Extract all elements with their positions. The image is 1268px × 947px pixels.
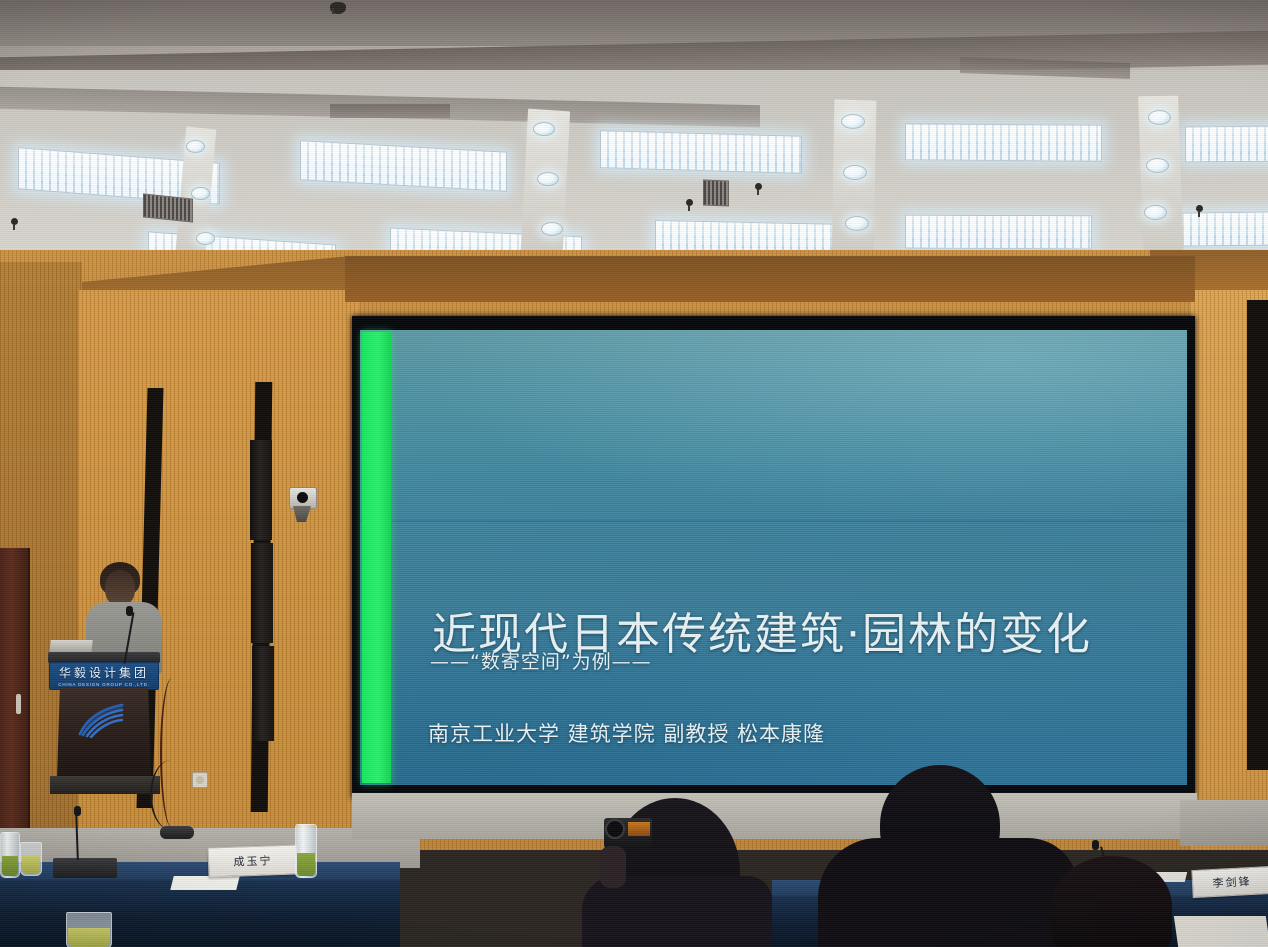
wall-dark-panel-right: [1247, 300, 1268, 770]
table-paper: [170, 876, 239, 890]
table-skirt: [0, 880, 400, 947]
nameplate-left: 成玉宁: [208, 844, 299, 877]
downlight: [843, 165, 867, 180]
podium: 华毅设计集团 CHINA DESIGN GROUP CO.,LTD.: [48, 652, 163, 797]
ceiling-sprinkler: [755, 183, 762, 190]
ceiling-sprinkler: [686, 199, 693, 206]
ceiling-sprinkler: [1196, 205, 1203, 212]
table-microphone-head: [74, 806, 81, 816]
screen-green-edge-artifact: [362, 332, 391, 783]
downlight: [841, 114, 865, 129]
tea-glass: [20, 842, 42, 876]
table-paper-stack: [1174, 916, 1268, 947]
ceiling-light-panel: [905, 123, 1102, 161]
stage-floor-center: [352, 793, 1197, 839]
nameplate-right-text: 李剑锋: [1212, 873, 1252, 891]
audience-attendee-center-body: [818, 838, 1078, 947]
downlight: [1144, 205, 1167, 220]
led-screen[interactable]: [360, 330, 1187, 785]
screen-header-soffit: [345, 256, 1195, 302]
podium-sign-chinese: 华毅设计集团: [50, 664, 158, 681]
screen-scanlines: [360, 330, 1187, 785]
downlight: [537, 172, 559, 186]
ceiling-light-panel: [600, 130, 802, 174]
ceiling-sprinkler: [330, 2, 346, 14]
downlight: [1146, 158, 1169, 173]
stage-floor-right: [1180, 800, 1268, 846]
floor-equipment: [160, 826, 194, 839]
downlight: [1148, 110, 1171, 125]
side-door[interactable]: [0, 548, 30, 853]
photographer-hand: [600, 846, 626, 888]
downlight: [196, 232, 215, 245]
slide-presenter: 南京工业大学 建筑学院 副教授 松本康隆: [428, 718, 825, 748]
podium-microphone-head: [126, 606, 133, 616]
ceiling: [0, 0, 1268, 262]
ceiling-light-panel: [905, 215, 1092, 250]
audience-attendee-right-head: [1052, 856, 1172, 947]
podium-sign: 华毅设计集团 CHINA DESIGN GROUP CO.,LTD.: [49, 662, 159, 690]
wall-speaker-column: [250, 440, 272, 540]
water-bottle: [295, 824, 317, 878]
table-microphone-head: [1092, 840, 1099, 850]
ceiling-recess-a: [330, 104, 450, 118]
downlight: [191, 187, 210, 200]
ceiling-light-panel: [1175, 211, 1268, 246]
floor-cable: [150, 760, 192, 830]
ceiling-vent: [703, 180, 729, 207]
wall-speaker-column: [251, 543, 273, 643]
ceiling-vent: [143, 193, 193, 222]
nameplate-left-text: 成玉宁: [233, 852, 273, 869]
dslr-camera-icon: [604, 818, 652, 848]
ceiling-sprinkler: [11, 218, 18, 225]
podium-sign-english: CHINA DESIGN GROUP CO.,LTD.: [50, 682, 158, 687]
wall-speaker-column: [252, 646, 274, 741]
blue-wing-logo-icon: [76, 702, 126, 738]
conference-hall-photo: 近现代日本传统建筑·园林的变化 ——“数寄空间”为例—— 南京工业大学 建筑学院…: [0, 0, 1268, 947]
table-microphone-unit[interactable]: [53, 858, 117, 878]
wall-camera-icon: [289, 487, 319, 525]
ceiling-light-panel: [1185, 126, 1268, 163]
downlight: [186, 140, 205, 153]
nameplate-right: 李剑锋: [1191, 866, 1268, 898]
speaker-head: [105, 570, 135, 606]
downlight: [533, 122, 555, 136]
downlight: [845, 216, 869, 231]
slide-subtitle: ——“数寄空间”为例——: [430, 647, 652, 674]
wall-power-outlet: [192, 772, 208, 788]
podium-base: [50, 776, 160, 794]
tea-glass-front: [66, 912, 112, 947]
water-bottle: [0, 832, 20, 878]
downlight: [541, 222, 563, 236]
